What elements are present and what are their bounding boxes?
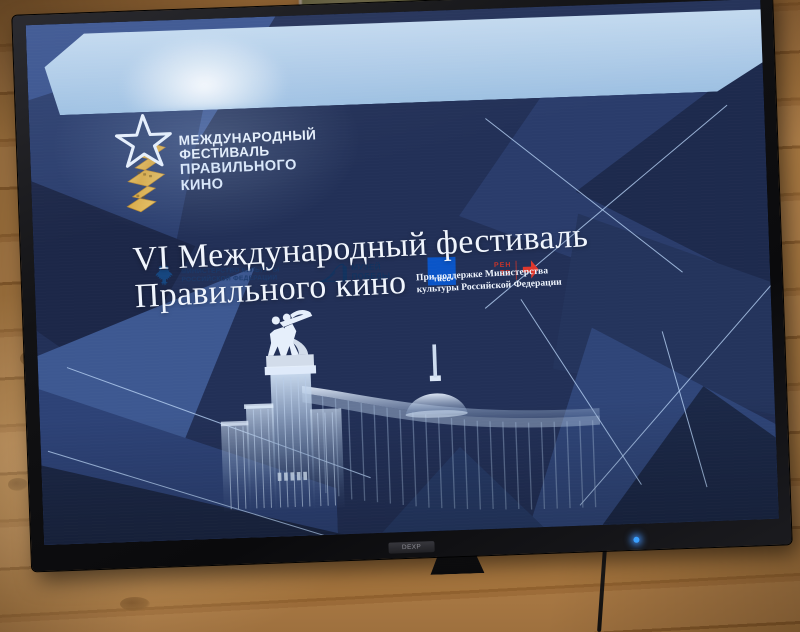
room-scene: МИНИСТЕРСТВО КУЛЬТУРЫ РОССИЙСКОЙ ФЕДЕРАЦ… bbox=[0, 0, 800, 632]
domed-building bbox=[403, 343, 468, 418]
television: МИНИСТЕРСТВО КУЛЬТУРЫ РОССИЙСКОЙ ФЕДЕРАЦ… bbox=[12, 0, 791, 571]
tv-brand-logo: DEXP bbox=[388, 541, 434, 554]
city-illustration bbox=[161, 289, 654, 535]
tv-power-led bbox=[633, 537, 639, 543]
tv-screen: МИНИСТЕРСТВО КУЛЬТУРЫ РОССИЙСКОЙ ФЕДЕРАЦ… bbox=[26, 0, 779, 545]
statue-worker-and-kolkhoz-woman bbox=[264, 310, 314, 368]
star-with-film-strip-icon bbox=[113, 113, 175, 215]
tv-bezel: МИНИСТЕРСТВО КУЛЬТУРЫ РОССИЙСКОЙ ФЕДЕРАЦ… bbox=[12, 0, 791, 571]
festival-logo-text: МЕЖДУНАРОДНЫЙ ФЕСТИВАЛЬ ПРАВИЛЬНОГО КИНО bbox=[178, 128, 318, 194]
festival-logo: МЕЖДУНАРОДНЫЙ ФЕСТИВАЛЬ ПРАВИЛЬНОГО КИНО bbox=[113, 110, 319, 215]
festival-poster: МИНИСТЕРСТВО КУЛЬТУРЫ РОССИЙСКОЙ ФЕДЕРАЦ… bbox=[26, 0, 779, 545]
tower-building bbox=[219, 364, 345, 511]
